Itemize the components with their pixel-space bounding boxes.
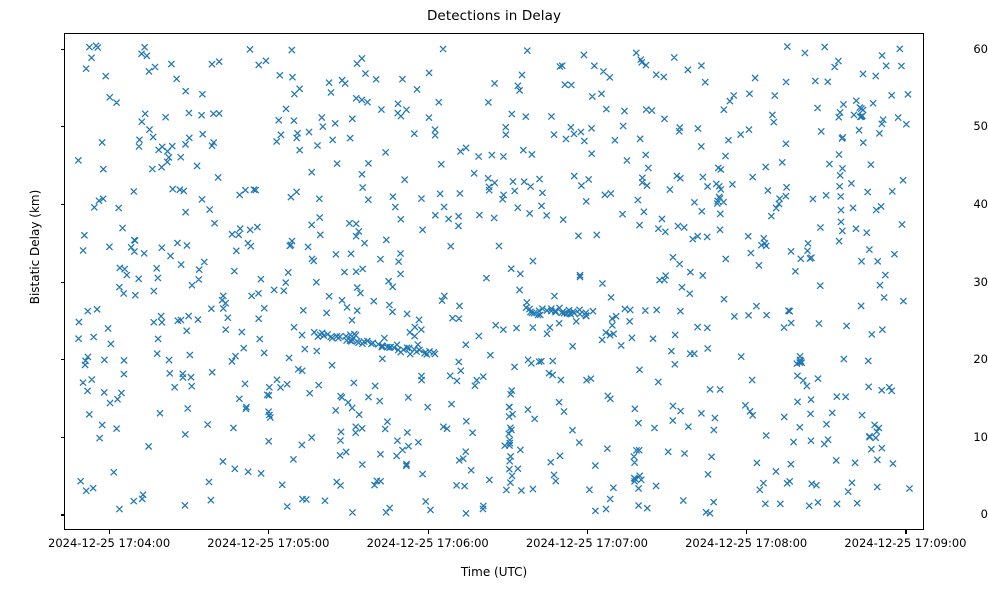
x-tick-mark bbox=[109, 530, 110, 534]
x-tick-label: 2024-12-25 17:08:00 bbox=[685, 537, 807, 550]
x-tick-label: 2024-12-25 17:06:00 bbox=[367, 537, 489, 550]
y-tick-mark bbox=[61, 282, 65, 283]
scatter-markers bbox=[75, 43, 912, 517]
y-tick-label: 50 bbox=[933, 119, 988, 133]
y-tick-mark bbox=[61, 204, 65, 205]
x-axis-title: Time (UTC) bbox=[0, 565, 988, 579]
y-tick-mark bbox=[61, 49, 65, 50]
x-tick-mark bbox=[268, 530, 269, 534]
y-tick-mark bbox=[61, 359, 65, 360]
y-tick-mark bbox=[61, 437, 65, 438]
y-tick-label: 60 bbox=[933, 42, 988, 56]
y-axis-title: Bistatic Delay (km) bbox=[28, 117, 42, 377]
y-tick-label: 10 bbox=[933, 430, 988, 444]
x-tick-label: 2024-12-25 17:09:00 bbox=[844, 537, 966, 550]
y-tick-label: 40 bbox=[933, 197, 988, 211]
x-tick-mark bbox=[428, 530, 429, 534]
y-tick-mark bbox=[61, 126, 65, 127]
page-title: Detections in Delay bbox=[0, 8, 988, 24]
y-tick-label: 0 bbox=[933, 507, 988, 521]
x-tick-mark bbox=[746, 530, 747, 534]
x-tick-mark bbox=[587, 530, 588, 534]
y-tick-label: 30 bbox=[933, 275, 988, 289]
x-tick-label: 2024-12-25 17:04:00 bbox=[48, 537, 170, 550]
y-tick-mark bbox=[61, 514, 65, 515]
x-tick-label: 2024-12-25 17:07:00 bbox=[526, 537, 648, 550]
x-tick-mark bbox=[905, 530, 906, 534]
x-tick-label: 2024-12-25 17:05:00 bbox=[207, 537, 329, 550]
plot-axes-frame bbox=[64, 33, 924, 530]
scatter-series bbox=[65, 34, 923, 529]
matplotlib-figure: Detections in Delay 0102030405060 2024-1… bbox=[0, 0, 988, 590]
y-tick-label: 20 bbox=[933, 352, 988, 366]
